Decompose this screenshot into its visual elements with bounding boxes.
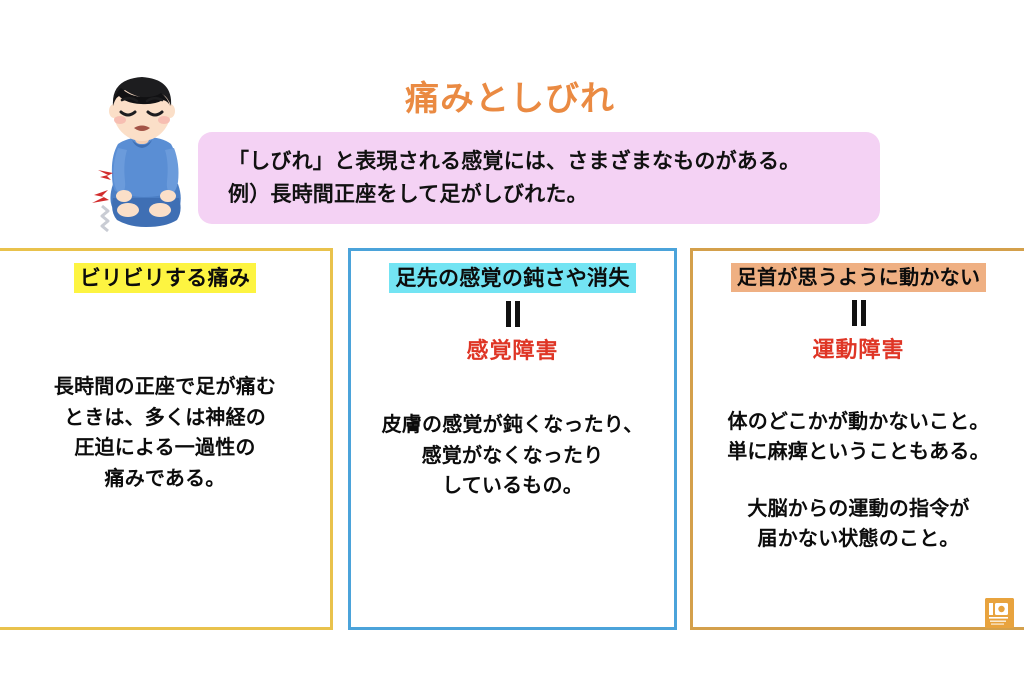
card-body-line: 痛みである。	[0, 463, 330, 493]
card-body-line: 長時間の正座で足が痛む	[0, 371, 330, 401]
card-body-text: 体のどこかが動かないこと。 単に麻痺ということもある。 大脳からの運動の指令が …	[693, 406, 1024, 554]
card-body-line: 感覚がなくなったり	[351, 440, 674, 470]
card-body-line: 大脳からの運動の指令が	[693, 493, 1024, 523]
card-paragraph: 皮膚の感覚が鈍くなったり、 感覚がなくなったり しているもの。	[351, 409, 674, 500]
card-heading-wrap: 足先の感覚の鈍さや消失	[351, 263, 674, 293]
card-body-line: しているもの。	[351, 470, 674, 500]
intro-note-box: 「しびれ」と表現される感覚には、さまざまなものがある。 例）長時間正座をして足が…	[198, 132, 880, 224]
card-body-line: ときは、多くは神経の	[0, 402, 330, 432]
person-sitting-seiza-illustration	[80, 72, 196, 234]
equals-sign-icon	[502, 301, 524, 327]
card-body-line: 体のどこかが動かないこと。	[693, 406, 1024, 436]
card-heading-highlight: 足先の感覚の鈍さや消失	[389, 263, 635, 293]
card-subtitle: 感覚障害	[351, 333, 674, 365]
card-body-text: 皮膚の感覚が鈍くなったり、 感覚がなくなったり しているもの。	[351, 409, 674, 500]
card-body-line: 届かない状態のこと。	[693, 523, 1024, 553]
card-paragraph: 長時間の正座で足が痛む ときは、多くは神経の 圧迫による一過性の 痛みである。	[0, 371, 330, 493]
card-subtitle: 運動障害	[693, 332, 1024, 364]
equals-sign-icon	[848, 300, 870, 326]
card-body-text: 長時間の正座で足が痛む ときは、多くは神経の 圧迫による一過性の 痛みである。	[0, 371, 330, 493]
card-heading-wrap: ビリビリする痛み	[0, 263, 330, 293]
intro-note-line-2: 例）長時間正座をして足がしびれた。	[228, 178, 880, 211]
card-paragraph: 体のどこかが動かないこと。 単に麻痺ということもある。	[693, 406, 1024, 467]
intro-note-line-1: 「しびれ」と表現される感覚には、さまざまなものがある。	[228, 145, 880, 178]
card-heading-wrap: 足首が思うように動かない	[693, 263, 1024, 292]
page-title: 痛みとしびれ	[300, 80, 720, 119]
card-body-line: 皮膚の感覚が鈍くなったり、	[351, 409, 674, 439]
info-card-motor-disorder: 足首が思うように動かない 運動障害 体のどこかが動かないこと。 単に麻痺というこ…	[690, 248, 1024, 630]
card-heading-highlight: ビリビリする痛み	[74, 263, 256, 293]
card-body-line: 圧迫による一過性の	[0, 432, 330, 462]
info-card-tingling-pain: ビリビリする痛み 長時間の正座で足が痛む ときは、多くは神経の 圧迫による一過性…	[0, 248, 333, 630]
card-heading-highlight: 足首が思うように動かない	[731, 263, 987, 292]
card-paragraph: 大脳からの運動の指令が 届かない状態のこと。	[693, 493, 1024, 554]
info-card-sensory-disorder: 足先の感覚の鈍さや消失 感覚障害 皮膚の感覚が鈍くなったり、 感覚がなくなったり…	[348, 248, 677, 630]
slide-canvas: 痛みとしびれ 「しびれ」と表現される感覚には、さまざまなものがある。 例）長時間…	[0, 0, 1024, 677]
card-body-line: 単に麻痺ということもある。	[693, 436, 1024, 466]
brand-logo-badge-icon	[985, 598, 1014, 628]
